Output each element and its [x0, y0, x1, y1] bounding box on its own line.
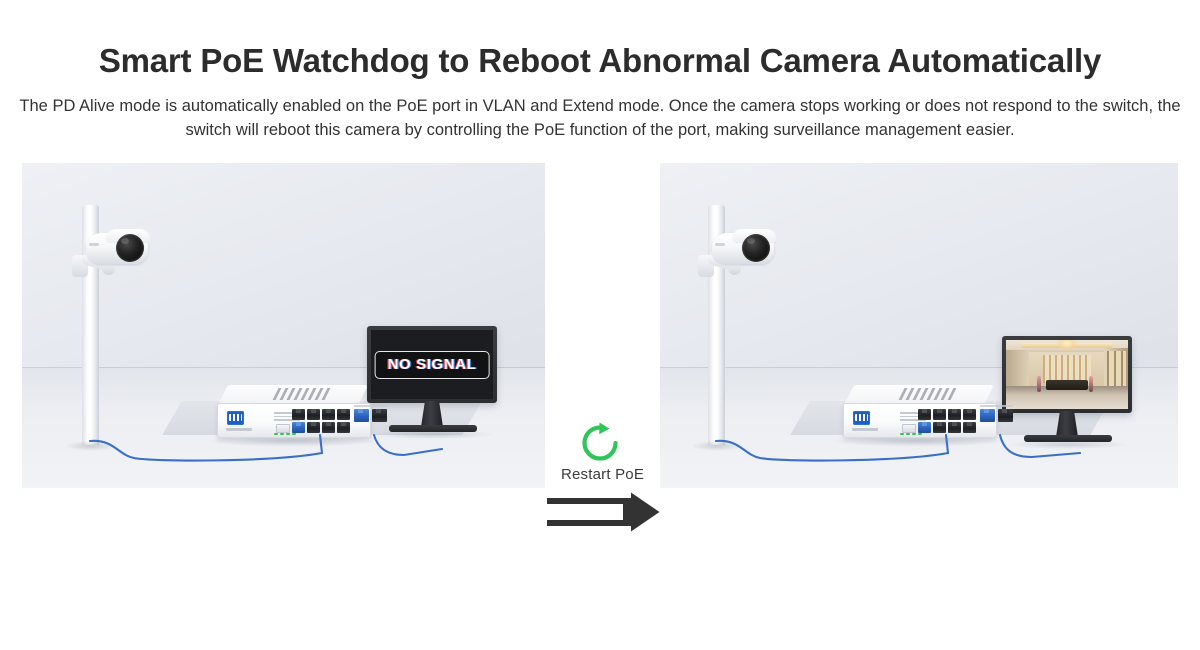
ethernet-cable-monitor-left	[22, 163, 545, 488]
page-title: Smart PoE Watchdog to Reboot Abnormal Ca…	[0, 40, 1200, 82]
right-arrow-icon	[545, 492, 662, 532]
header: Smart PoE Watchdog to Reboot Abnormal Ca…	[0, 0, 1200, 142]
transition-column: Restart PoE	[545, 320, 660, 650]
circular-refresh-icon	[579, 422, 621, 464]
after-panel	[660, 163, 1178, 488]
illustration-stage: NO SIGNAL	[0, 160, 1200, 490]
ethernet-cable-monitor-right	[660, 163, 1178, 488]
page-subtitle: The PD Alive mode is automatically enabl…	[10, 94, 1190, 142]
before-panel: NO SIGNAL	[22, 163, 545, 488]
poe-watchdog-infographic: Smart PoE Watchdog to Reboot Abnormal Ca…	[0, 0, 1200, 520]
restart-poe-label: Restart PoE	[545, 466, 660, 483]
